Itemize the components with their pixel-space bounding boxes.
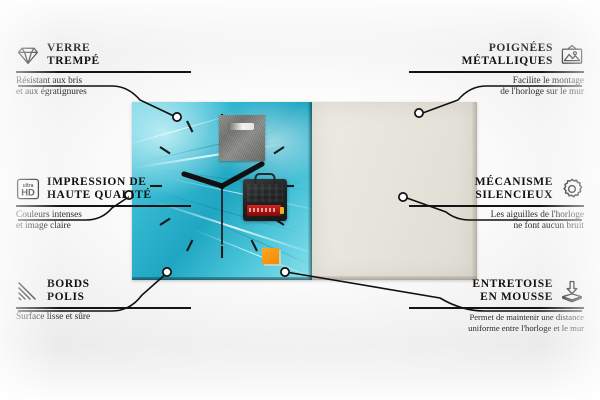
foam-spacer [262, 248, 279, 264]
callout-desc-line2: uniforme entre l'horloge et le mur [409, 323, 584, 334]
diamond-icon [16, 43, 40, 67]
callout-title-line1: VERRE [47, 42, 100, 55]
callout-bords-polis: BORDS POLIS Surface lisse et sûre [16, 278, 191, 323]
callout-poignees-metalliques: POIGNÉES MÉTALLIQUES Facilite le montage… [409, 42, 584, 98]
callout-rule [16, 71, 191, 73]
gear-icon [560, 177, 584, 201]
metal-hanger-plate [219, 115, 265, 161]
callout-desc-line1: Couleurs intenses [16, 210, 191, 221]
infographic-canvas: VERRE TREMPÉ Résistant aux bris et aux é… [0, 0, 600, 400]
callout-title-line1: IMPRESSION DE [47, 176, 152, 189]
callout-title-line2: SILENCIEUX [475, 189, 553, 202]
callout-title-line2: POLIS [47, 291, 90, 304]
callout-desc-line2: et image claire [16, 221, 191, 232]
callout-desc-line1: Facilite le montage [409, 76, 584, 87]
callout-title-line2: MÉTALLIQUES [462, 55, 553, 68]
callout-rule [16, 205, 191, 207]
battery [247, 205, 281, 216]
callout-title-line2: TREMPÉ [47, 55, 100, 68]
callout-impression-haute-qualite: ultra HD IMPRESSION DE HAUTE QUALITÉ Cou… [16, 176, 191, 232]
spacer-press-icon [560, 279, 584, 303]
callout-title-line1: ENTRETOISE [472, 278, 553, 291]
callout-rule [409, 307, 584, 309]
callout-verre-trempe: VERRE TREMPÉ Résistant aux bris et aux é… [16, 42, 191, 98]
callout-entretoise-en-mousse: ENTRETOISE EN MOUSSE Permet de maintenir… [409, 278, 584, 334]
callout-desc-line1: Permet de maintenir une distance [409, 312, 584, 323]
callout-rule [409, 71, 584, 73]
callout-mecanisme-silencieux: MÉCANISME SILENCIEUX Les aiguilles de l'… [409, 176, 584, 232]
callout-desc-line2: et aux égratignures [16, 87, 191, 98]
clock-mechanism [243, 179, 287, 221]
callout-title-line1: MÉCANISME [475, 176, 553, 189]
callout-title-line2: HAUTE QUALITÉ [47, 189, 152, 202]
callout-title-line1: BORDS [47, 278, 90, 291]
ultra-hd-icon-bottom: HD [21, 187, 35, 198]
callout-title-line1: POIGNÉES [462, 42, 553, 55]
callout-desc-line2: ne font aucun bruit [409, 221, 584, 232]
picture-frame-icon [560, 43, 584, 67]
callout-desc-line1: Les aiguilles de l'horloge [409, 210, 584, 221]
callout-desc-line1: Résistant aux bris [16, 76, 191, 87]
callout-rule [409, 205, 584, 207]
polished-edge-icon [16, 279, 40, 303]
callout-desc-line2: de l'horloge sur le mur [409, 87, 584, 98]
callout-desc-line1: Surface lisse et sûre [16, 312, 191, 323]
callout-title-line2: EN MOUSSE [472, 291, 553, 304]
callout-rule [16, 307, 191, 309]
ultra-hd-icon: ultra HD [16, 177, 40, 201]
